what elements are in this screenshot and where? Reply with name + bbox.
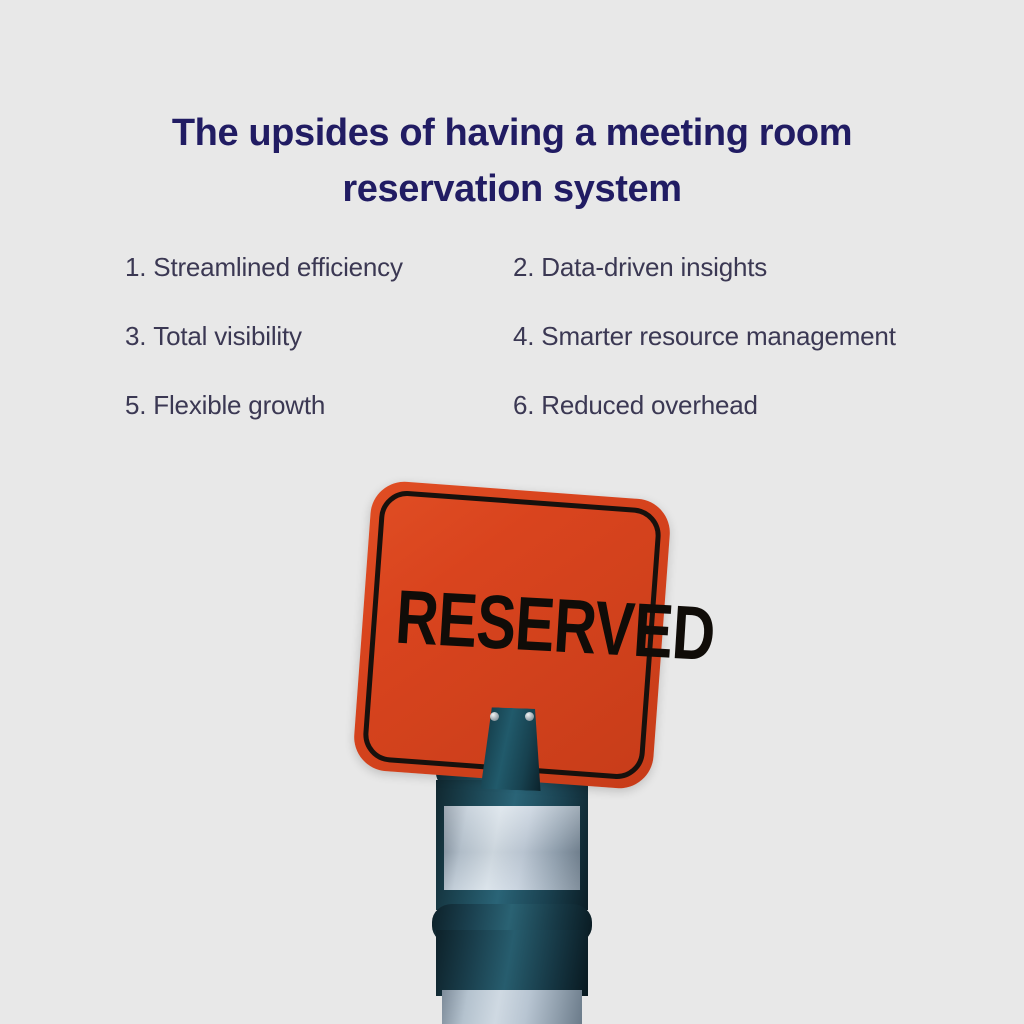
list-item-number: 2. bbox=[513, 252, 534, 282]
list-item-number: 1. bbox=[125, 252, 146, 282]
page-title: The upsides of having a meeting room res… bbox=[112, 105, 912, 217]
bracket-screw-right bbox=[525, 712, 534, 721]
cone-reflective-band bbox=[444, 806, 580, 890]
poster-canvas: The upsides of having a meeting room res… bbox=[0, 0, 1024, 1024]
list-item-label: Data-driven insights bbox=[541, 252, 767, 282]
list-item: 5.Flexible growth bbox=[125, 390, 513, 420]
list-item: 6.Reduced overhead bbox=[513, 390, 1005, 420]
page-title-line-2: reservation system bbox=[112, 161, 912, 217]
list-item-label: Reduced overhead bbox=[541, 390, 758, 420]
list-item: 3.Total visibility bbox=[125, 321, 513, 351]
list-item: 1.Streamlined efficiency bbox=[125, 252, 513, 282]
list-item-number: 6. bbox=[513, 390, 534, 420]
list-item-label: Total visibility bbox=[153, 321, 302, 351]
list-item-number: 5. bbox=[125, 390, 146, 420]
page-title-line-1: The upsides of having a meeting room bbox=[112, 105, 912, 161]
cone-reflective-band-lower bbox=[442, 990, 582, 1024]
benefits-list: 1.Streamlined efficiency 2.Data-driven i… bbox=[125, 252, 1005, 459]
list-item: 2.Data-driven insights bbox=[513, 252, 1005, 282]
list-item-label: Smarter resource management bbox=[541, 321, 895, 351]
list-item: 4.Smarter resource management bbox=[513, 321, 1005, 351]
list-item-number: 4. bbox=[513, 321, 534, 351]
sign-text: RESERVED bbox=[394, 580, 632, 669]
list-item-label: Flexible growth bbox=[153, 390, 325, 420]
list-item-number: 3. bbox=[125, 321, 146, 351]
cone-body-lower bbox=[436, 930, 588, 996]
reserved-cone-photo: RESERVED bbox=[0, 470, 1024, 1024]
list-item-label: Streamlined efficiency bbox=[153, 252, 402, 282]
bracket-screw-left bbox=[490, 712, 499, 721]
